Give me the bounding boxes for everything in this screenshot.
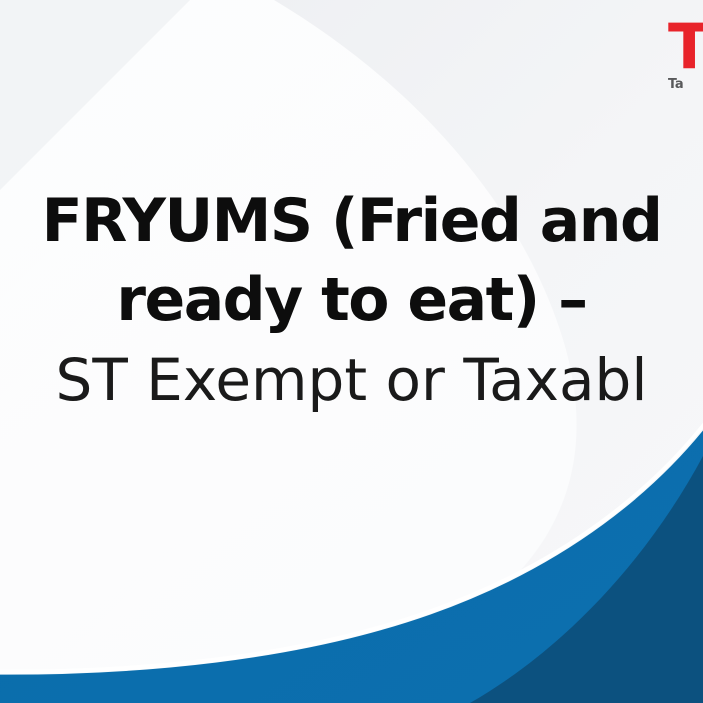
title-line-2: ready to eat) –: [0, 261, 703, 340]
slide-title: FRYUMS (Fried and ready to eat) – ST Exe…: [0, 182, 703, 420]
title-line-3: ST Exempt or Taxabl: [0, 340, 703, 420]
letter-t-logo-icon: T: [668, 22, 703, 73]
title-line-1: FRYUMS (Fried and: [0, 182, 703, 261]
brand-logo[interactable]: T Ta: [668, 22, 703, 92]
slide-canvas: T Ta FRYUMS (Fried and ready to eat) – S…: [0, 0, 703, 703]
